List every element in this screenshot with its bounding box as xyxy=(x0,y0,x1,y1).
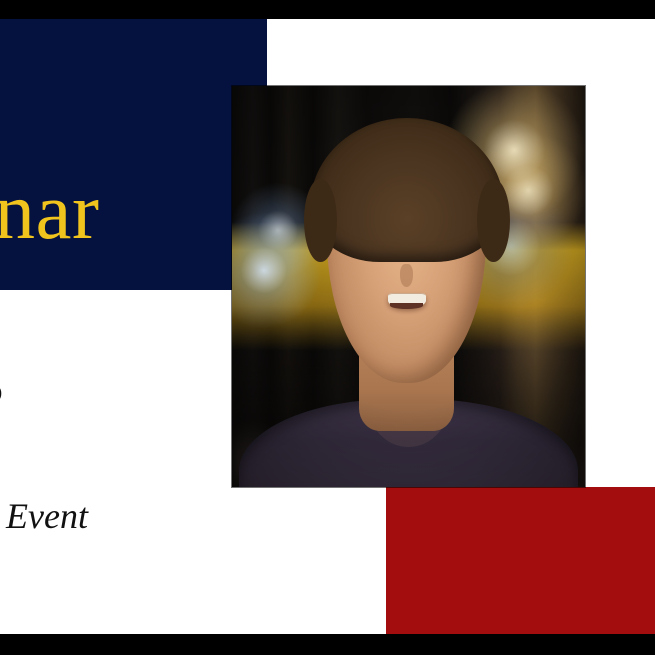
subject-hair xyxy=(310,118,504,262)
portrait-subject xyxy=(232,86,585,487)
subject-nose xyxy=(400,264,413,287)
speaker-name: rig xyxy=(0,330,2,402)
letterbox-bar-bottom xyxy=(0,634,655,655)
red-accent-block xyxy=(386,487,655,634)
speaker-portrait-photo xyxy=(232,86,585,487)
event-subline: n with Event xyxy=(0,498,88,534)
seminar-title: minar xyxy=(0,171,99,252)
letterbox-bar-top xyxy=(0,0,655,19)
subject-smile xyxy=(388,293,426,308)
event-seminar-poster: minar rig rich n with Event xyxy=(0,0,655,655)
navy-banner-block: minar xyxy=(0,19,267,290)
